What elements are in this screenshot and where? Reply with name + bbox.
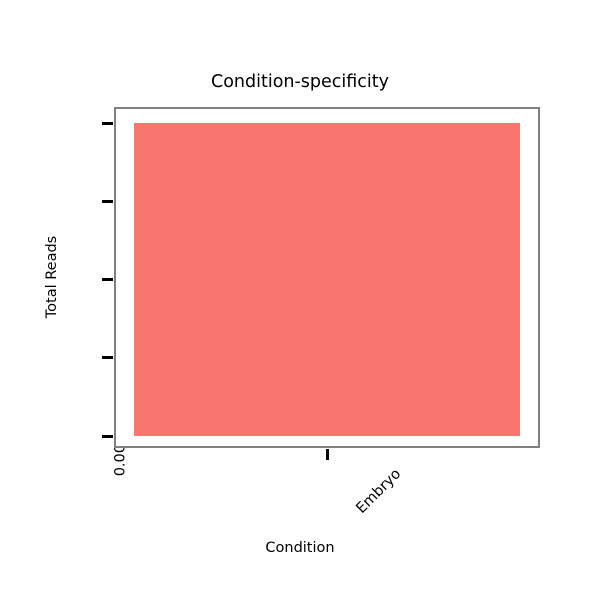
y-tick-mark [102, 200, 113, 203]
plot-panel [114, 107, 540, 448]
x-axis-title: Condition [0, 540, 600, 556]
y-tick-mark [102, 356, 113, 359]
plot-area [116, 109, 538, 446]
chart-figure: Condition-specificity Total Reads 0.000.… [0, 0, 600, 600]
y-tick-mark [102, 278, 113, 281]
x-tick-label: Embryo [353, 466, 404, 517]
y-tick-label: 0.00 [112, 444, 128, 476]
bar [134, 123, 520, 436]
y-tick-mark [102, 122, 113, 125]
chart-title: Condition-specificity [0, 72, 600, 92]
y-tick-mark [102, 435, 113, 438]
y-axis-title: Total Reads [44, 236, 60, 318]
x-tick-mark [326, 449, 329, 460]
